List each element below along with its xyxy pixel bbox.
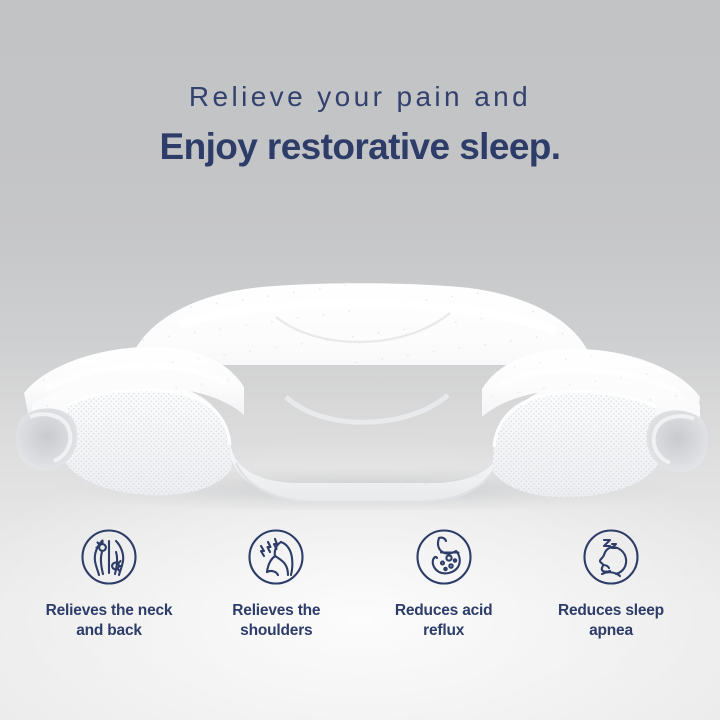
shoulder-pain-icon [247,528,305,586]
headline: Relieve your pain and Enjoy restorative … [0,80,720,170]
feature-label-acid-reflux: Reduces acid reflux [395,601,493,641]
feature-item-acid-reflux[interactable]: Reduces acid reflux [363,528,525,641]
pillow-right-mesh-panel [492,392,658,497]
headline-line-1: Relieve your pain and [0,80,720,114]
headline-line-2: Enjoy restorative sleep. [0,124,720,170]
feature-item-sleep-apnea[interactable]: Reduces sleep apnea [530,528,692,641]
feature-label-sleep-apnea: Reduces sleep apnea [558,601,664,641]
pillow-left-mesh-panel [66,390,232,495]
stomach-acid-icon [415,528,473,586]
sleep-apnea-icon [582,528,640,586]
product-feature-graphic: Relieve your pain and Enjoy restorative … [0,0,720,720]
pillow-illustration [0,255,720,510]
pillow-center-cradle [286,395,448,422]
product-image [0,255,720,510]
back-pain-icon [80,528,138,586]
feature-label-shoulders: Relieves the shoulders [232,601,320,641]
feature-item-shoulders[interactable]: Relieves the shoulders [195,528,357,641]
feature-list: Relieves the neck and back Relieves [0,528,720,641]
feature-label-neck-back: Relieves the neck and back [46,601,173,641]
feature-item-neck-back[interactable]: Relieves the neck and back [28,528,190,641]
